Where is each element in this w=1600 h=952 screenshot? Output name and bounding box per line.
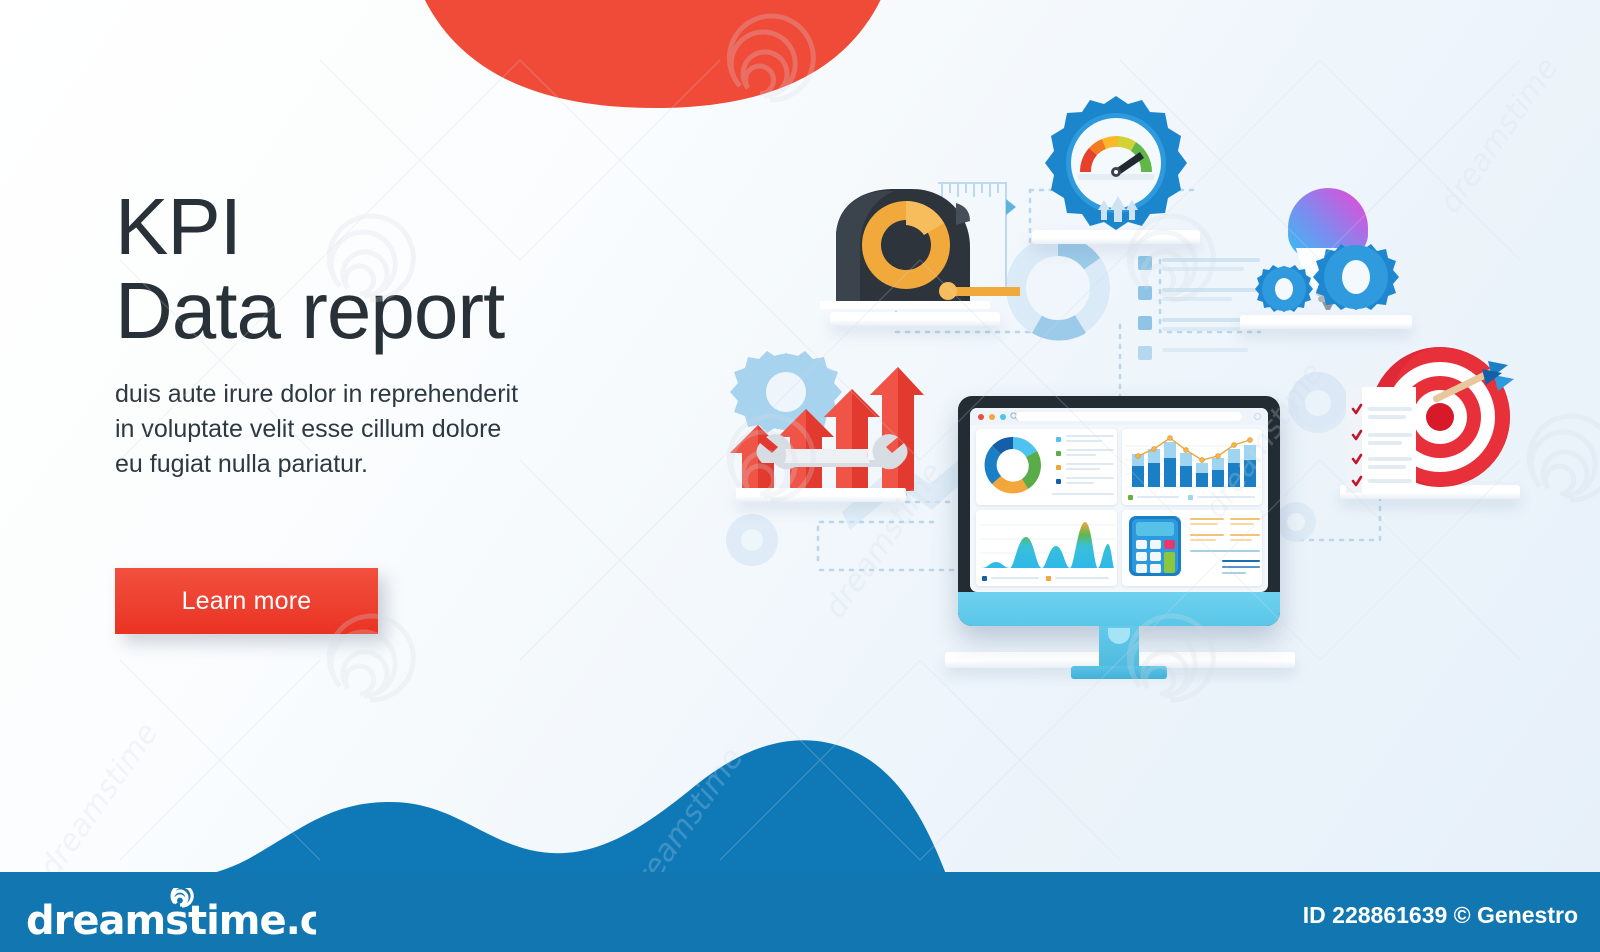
image-id-credit: ID 228861639 © Genestro	[1303, 902, 1578, 929]
text-line	[1222, 566, 1260, 568]
text-line	[1190, 518, 1224, 520]
legend-text-line	[1066, 463, 1114, 465]
legend-text-line	[1052, 493, 1114, 495]
text-line	[1222, 560, 1260, 562]
monitor-dashboard[interactable]	[958, 396, 1280, 626]
legend-text-line	[1066, 468, 1100, 470]
donut-chart	[980, 432, 1050, 498]
text-line	[1190, 550, 1260, 552]
legend-swatch	[1056, 451, 1061, 456]
legend-text-line	[1066, 454, 1096, 456]
calculator-clear-key	[1164, 540, 1175, 549]
text-line	[1190, 534, 1224, 536]
bars	[1132, 442, 1256, 487]
monitor-screen	[970, 408, 1268, 592]
hero-copy: KPI Data report duis aute irure dolor in…	[115, 185, 635, 482]
page-title: KPI Data report	[115, 185, 635, 353]
calculator-icon	[1128, 515, 1182, 577]
legend-swatch	[1188, 495, 1193, 500]
peaks-area-chart	[980, 513, 1115, 571]
legend-swatch	[1056, 479, 1061, 484]
learn-more-label: Learn more	[182, 587, 312, 616]
text-line	[1222, 572, 1246, 574]
legend-text-line	[991, 577, 1039, 579]
legend-text-line	[1137, 496, 1179, 498]
text-line	[1190, 539, 1216, 541]
legend-text-line	[1066, 449, 1114, 451]
panel-area-chart[interactable]	[976, 510, 1117, 586]
title-line-2: Data report	[115, 269, 635, 353]
growth-arrows-wrench-icon	[724, 345, 924, 495]
decorative-blue-wave	[0, 690, 1010, 890]
subtitle-line-2: in voluptate velit esse cillum dolore	[115, 415, 501, 443]
window-close-dot[interactable]	[978, 414, 984, 420]
legend-swatch	[1128, 495, 1133, 500]
text-line	[1230, 534, 1260, 536]
legend-swatch	[982, 576, 987, 581]
monitor-stand-base	[1071, 666, 1167, 679]
title-line-1: KPI	[115, 182, 241, 271]
gear-large	[1313, 244, 1399, 310]
legend-text-line	[1066, 435, 1114, 437]
gauge-gear-icon	[1034, 92, 1198, 242]
dreamstime-wordmark: dreamstime.com	[26, 898, 316, 940]
browser-chrome	[970, 408, 1268, 425]
monitor-stand-neck	[1099, 626, 1139, 670]
dashboard-panels	[976, 429, 1262, 586]
kpi-illustration	[700, 70, 1580, 690]
wrench-icon	[756, 434, 907, 469]
legend-swatch	[1056, 437, 1061, 442]
text-line	[1190, 523, 1218, 525]
address-bar[interactable]	[1016, 412, 1242, 421]
panel-bar-chart[interactable]	[1122, 429, 1263, 505]
legend-text-line	[1066, 477, 1114, 479]
legend-text-line	[1066, 440, 1102, 442]
calculator-equals-key	[1164, 552, 1175, 573]
stacked-bar-with-trend-line	[1126, 432, 1261, 490]
monitor-bottom-bar	[958, 592, 1280, 626]
lightbulb-gears-icon	[1238, 170, 1418, 320]
area-series	[982, 522, 1114, 568]
text-line	[1230, 523, 1254, 525]
target-checklist-icon	[1322, 345, 1532, 495]
learn-more-button[interactable]: Learn more	[115, 568, 378, 634]
dreamstime-footer: dreamstime.com ID 228861639 © Genestro	[0, 872, 1600, 952]
legend-text-line	[1055, 577, 1109, 579]
illustration-canvas: KPI Data report duis aute irure dolor in…	[0, 0, 1600, 952]
legend-text-line	[1066, 482, 1094, 484]
legend-swatch	[1046, 576, 1051, 581]
hero-subtitle: duis aute irure dolor in reprehenderit i…	[115, 377, 585, 482]
tape-measure-icon	[820, 175, 1020, 320]
background-donut	[1006, 236, 1110, 341]
gear-small	[1255, 265, 1313, 312]
gear-icon	[730, 351, 842, 433]
checklist-document	[1346, 387, 1416, 493]
window-minimize-dot[interactable]	[989, 414, 995, 420]
panel-calculator[interactable]	[1122, 510, 1263, 586]
legend-swatch	[1056, 465, 1061, 470]
panel-donut-chart[interactable]	[976, 429, 1117, 505]
legend-text-line	[1197, 496, 1255, 498]
dreamstime-logo[interactable]: dreamstime.com	[26, 888, 316, 940]
subtitle-line-3: eu fugiat nulla pariatur.	[115, 450, 368, 478]
text-line	[1230, 539, 1252, 541]
subtitle-line-1: duis aute irure dolor in reprehenderit	[115, 380, 518, 408]
window-maximize-dot[interactable]	[1000, 414, 1006, 420]
settings-gear-icon[interactable]	[1253, 412, 1262, 421]
text-line	[1230, 518, 1260, 520]
